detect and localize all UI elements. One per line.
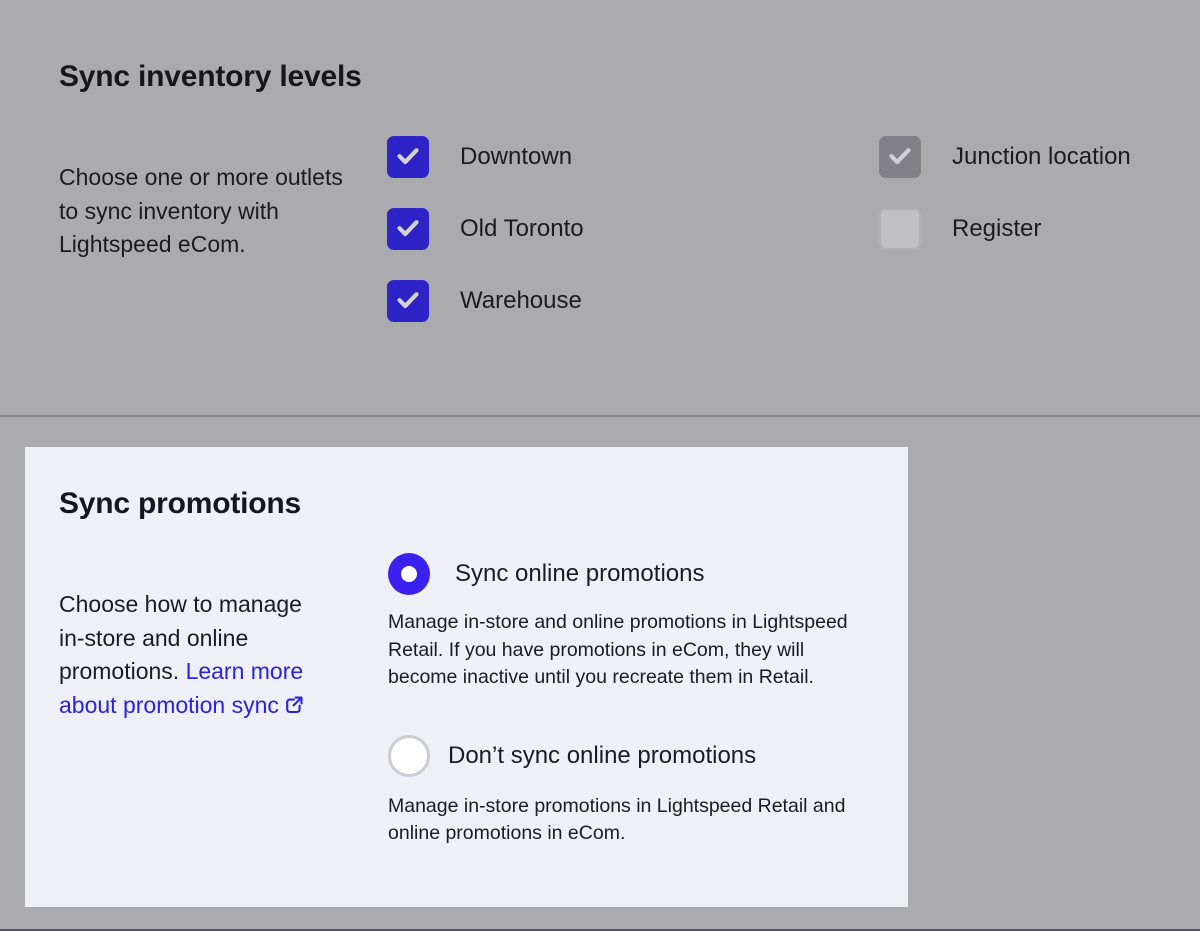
outlet-checkbox-column-left: Downtown Old Toronto Warehouse [387, 136, 584, 322]
outlet-checkbox-row-register: Register [879, 208, 1131, 250]
inventory-description: Choose one or more outlets to sync inven… [59, 161, 349, 262]
promotion-option-sync-online: Sync online promotions Manage in-store a… [388, 553, 888, 692]
radio-sync-online-promotions[interactable] [388, 553, 430, 595]
page-title: Sync inventory levels [59, 60, 362, 94]
radio-dont-sync-online-promotions[interactable] [388, 735, 430, 777]
outlet-label-register: Register [952, 217, 1041, 241]
checkbox-old-toronto[interactable] [387, 208, 429, 250]
outlet-checkbox-row-warehouse[interactable]: Warehouse [387, 280, 584, 322]
promotion-sync-radio-group: Sync online promotions Manage in-store a… [388, 553, 888, 848]
sync-inventory-levels-section: Sync inventory levels Choose one or more… [0, 0, 1200, 417]
checkmark-icon [396, 144, 420, 168]
outlet-label-downtown: Downtown [460, 145, 572, 169]
outlet-checkbox-row-downtown[interactable]: Downtown [387, 136, 584, 178]
checkmark-icon [396, 216, 420, 240]
external-link-icon [283, 692, 305, 726]
outlet-label-junction-location: Junction location [952, 145, 1131, 169]
outlet-checkbox-row-junction-location: Junction location [879, 136, 1131, 178]
checkbox-junction-location [879, 136, 921, 178]
promotions-description: Choose how to manage in-store and online… [59, 588, 329, 725]
checkbox-warehouse[interactable] [387, 280, 429, 322]
checkbox-register [879, 208, 921, 250]
radio-label-sync-online-promotions: Sync online promotions [455, 562, 704, 586]
outlet-checkbox-row-old-toronto[interactable]: Old Toronto [387, 208, 584, 250]
radio-help-sync-online-promotions: Manage in-store and online promotions in… [388, 609, 878, 692]
sync-settings-page: { "inventory": { "title": "Sync inventor… [0, 0, 1200, 931]
radio-help-dont-sync-online-promotions: Manage in-store promotions in Lightspeed… [388, 793, 878, 848]
radio-row-sync-online-promotions[interactable]: Sync online promotions [388, 553, 888, 595]
radio-label-dont-sync-online-promotions: Don’t sync online promotions [448, 744, 756, 768]
promotion-option-dont-sync-online: Don’t sync online promotions Manage in-s… [388, 735, 888, 848]
sync-promotions-section: Sync promotions Choose how to manage in-… [25, 447, 908, 907]
checkmark-icon [888, 144, 912, 168]
promotions-title: Sync promotions [59, 487, 301, 521]
checkmark-icon [396, 288, 420, 312]
outlet-label-old-toronto: Old Toronto [460, 217, 584, 241]
outlet-checkbox-column-right: Junction location Register [879, 136, 1131, 250]
outlet-label-warehouse: Warehouse [460, 289, 582, 313]
checkbox-downtown[interactable] [387, 136, 429, 178]
radio-row-dont-sync-online-promotions[interactable]: Don’t sync online promotions [388, 735, 888, 777]
